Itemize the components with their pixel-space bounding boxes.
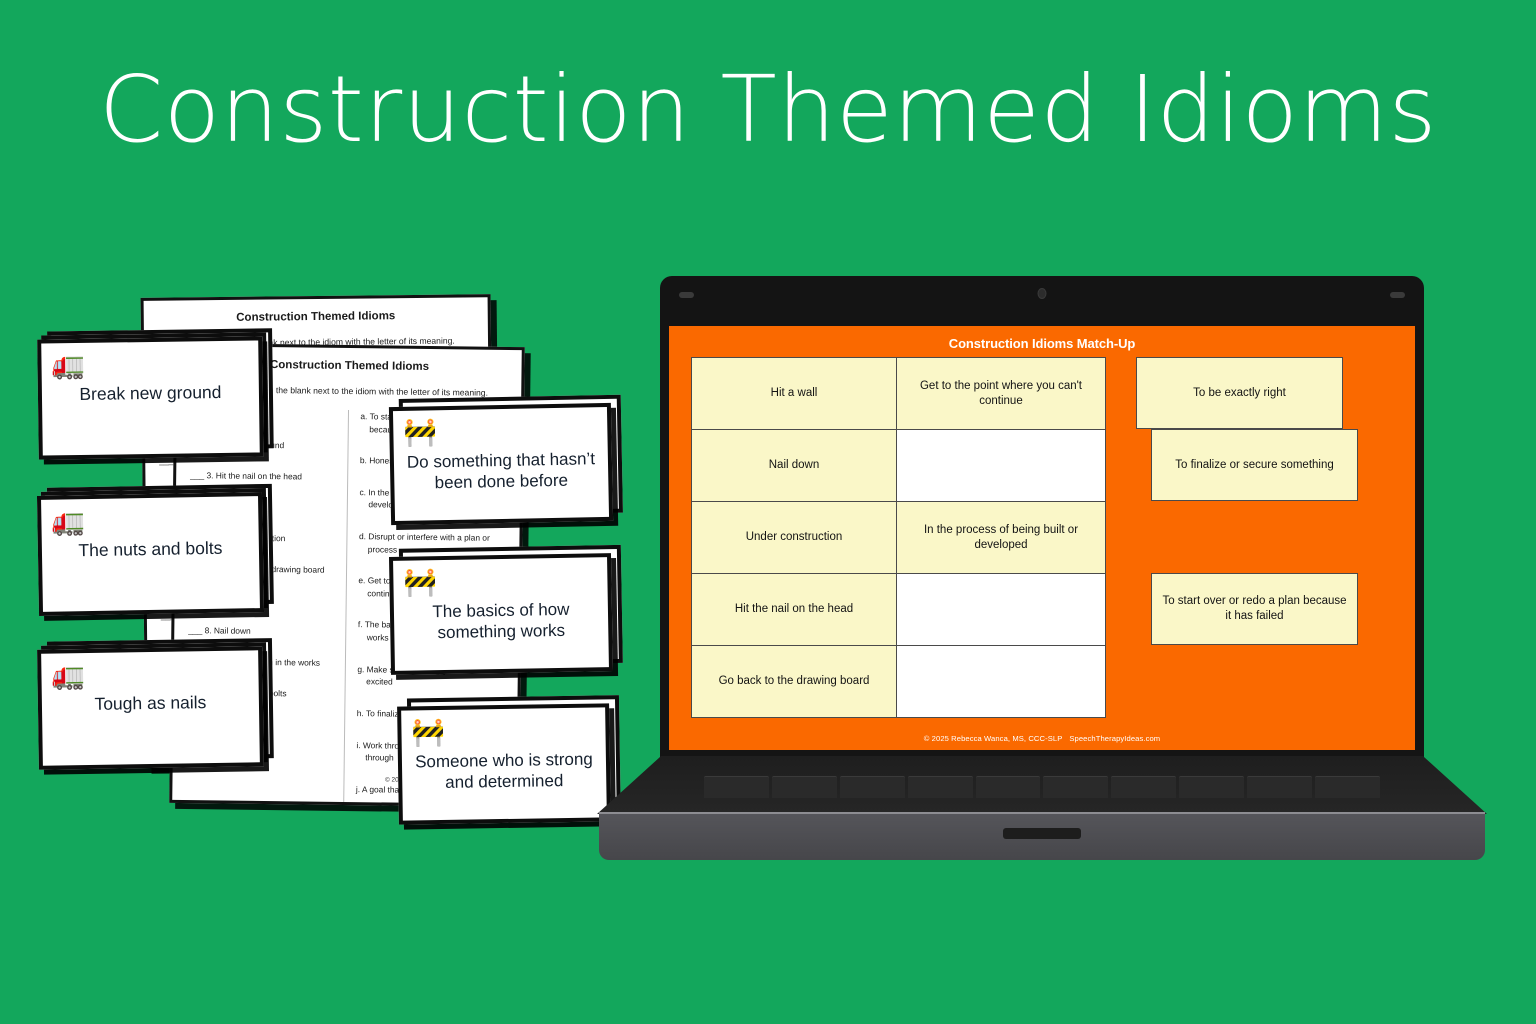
laptop-key [1111,776,1176,798]
meaning-cell[interactable]: In the process of being built or develop… [897,502,1106,574]
meaning-cell-empty[interactable] [897,574,1106,646]
answer-letter: a. [360,411,367,421]
laptop-base-front [599,812,1485,860]
idiom-card[interactable]: 🚛 Break new ground [37,336,264,459]
loose-meaning-card[interactable]: To be exactly right [1136,357,1343,429]
definition-card[interactable]: 🚧 The basics of how something works [389,553,613,675]
idiom-cell[interactable]: Hit a wall [692,358,897,430]
cement-mixer-truck-icon: 🚛 [51,349,258,384]
laptop-key-row [704,776,1380,798]
worksheet-question: ___ 3. Hit the nail on the head [190,470,337,482]
webcam-icon [1038,288,1047,299]
meaning-cell[interactable]: Get to the point where you can't continu… [897,358,1106,430]
table-row[interactable]: Hit a wall Get to the point where you ca… [692,358,1106,430]
laptop-key [704,776,769,798]
laptop-key [1043,776,1108,798]
construction-barrier-icon: 🚧 [403,566,608,602]
answer-text-2: excited [357,675,504,689]
cement-mixer-truck-icon: 🚛 [51,659,258,694]
laptop-lid: Construction Idioms Match-Up Hit a wall … [660,276,1424,760]
answer-letter: j. [356,784,360,794]
definition-card-text: Someone who is strong and determined [402,748,607,820]
speaker-grille-left-icon [679,292,694,298]
definition-card[interactable]: 🚧 Do something that hasn’t been done bef… [389,403,613,525]
loose-meaning-card[interactable]: To start over or redo a plan because it … [1151,573,1358,645]
laptop-key [908,776,973,798]
table-row[interactable]: Go back to the drawing board [692,646,1106,718]
laptop-key [1247,776,1312,798]
worksheet-question: ___ 8. Nail down [188,625,335,637]
idiom-cell[interactable]: Hit the nail on the head [692,574,897,646]
definition-card-text: Do something that hasn’t been done befor… [394,448,609,521]
laptop-key [976,776,1041,798]
table-row[interactable]: Nail down [692,430,1106,502]
construction-barrier-icon: 🚧 [403,416,608,452]
construction-barrier-icon: 🚧 [411,716,605,751]
cement-mixer-truck-icon: 🚛 [51,505,259,541]
answer-letter: c. [359,487,366,497]
idiom-cell[interactable]: Under construction [692,502,897,574]
laptop-screen[interactable]: Construction Idioms Match-Up Hit a wall … [669,326,1415,750]
answer-letter: i. [356,740,360,750]
credit-site: SpeechTherapyIdeas.com [1069,734,1160,743]
worksheet-title: Construction Themed Idioms [144,309,488,325]
table-row[interactable]: Hit the nail on the head [692,574,1106,646]
meaning-cell-empty[interactable] [897,646,1106,718]
credit-text: © 2025 Rebecca Wanca, MS, CCC-SLP [924,734,1063,743]
answer-letter: h. [357,708,364,718]
matchup-table[interactable]: Hit a wall Get to the point where you ca… [691,357,1106,718]
speaker-grille-right-icon [1390,292,1405,298]
laptop-front-notch [1003,828,1081,839]
laptop-key [772,776,837,798]
answer-letter: g. [357,664,364,674]
slide-credit: © 2025 Rebecca Wanca, MS, CCC-SLPSpeechT… [669,734,1415,743]
answer-letter: d. [359,531,366,541]
idiom-card-text: The nuts and bolts [42,537,260,612]
laptop-key [840,776,905,798]
answer-letter: b. [360,455,367,465]
loose-card-tray: To be exactly right To finalize or secur… [1136,357,1358,718]
slide-body: Hit a wall Get to the point where you ca… [669,351,1415,718]
laptop-key [1179,776,1244,798]
definition-card[interactable]: 🚧 Someone who is strong and determined [397,703,611,824]
slide-title: Construction Idioms Match-Up [669,326,1415,351]
idiom-card-text: Break new ground [42,381,260,455]
idiom-cell[interactable]: Nail down [692,430,897,502]
table-row[interactable]: Under construction In the process of bei… [692,502,1106,574]
answer-text: Disrupt or interfere with a plan or [368,531,490,542]
loose-meaning-card[interactable]: To finalize or secure something [1151,429,1358,501]
idiom-card-text: Tough as nails [42,691,260,765]
answer-letter: e. [358,575,365,585]
laptop-key [1315,776,1380,798]
answer-letter: f. [358,620,363,630]
idiom-card[interactable]: 🚛 Tough as nails [37,646,264,770]
idiom-cell[interactable]: Go back to the drawing board [692,646,897,718]
meaning-cell-empty[interactable] [897,430,1106,502]
idiom-card[interactable]: 🚛 The nuts and bolts [37,492,264,616]
definition-card-text: The basics of how something works [394,598,609,671]
laptop-mockup: Construction Idioms Match-Up Hit a wall … [597,276,1487,862]
